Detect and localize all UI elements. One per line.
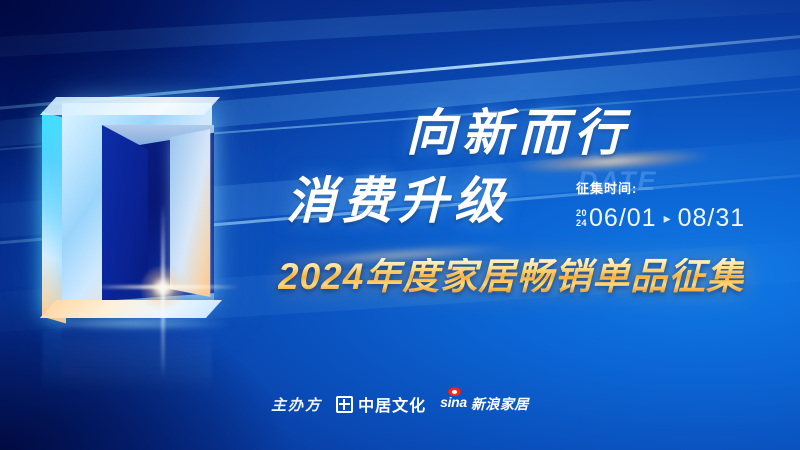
promo-banner: 向新而行 消费升级 DATE 征集时间: 20 24 06/01 ▸ 08/31… [0, 0, 800, 450]
reflection-side [42, 325, 64, 397]
headline-line-1: 向新而行 [406, 108, 756, 158]
date-start: 06/01 [589, 204, 657, 233]
date-end: 08/31 [678, 204, 746, 233]
sina-logo-icon: sina [440, 394, 467, 412]
subtitle-gold: 2024年度家居畅销单品征集 [278, 258, 744, 295]
sina-eye-icon [448, 387, 461, 396]
headline-group: 向新而行 消费升级 [406, 108, 756, 158]
footer-credits: 主办方 中居文化 sina 新浪家居 [0, 392, 800, 416]
date-year-bottom: 24 [576, 219, 587, 228]
sina-cn-label: 新浪家居 [471, 394, 529, 414]
date-separator-icon: ▸ [664, 210, 671, 227]
brand-zhongju: 中居文化 [336, 392, 426, 416]
light-ray [0, 0, 800, 64]
headline-line-2: 消费升级 [286, 176, 510, 226]
date-year-stacked: 20 24 [576, 209, 587, 227]
portal-reflection [40, 322, 230, 400]
portal-door-graphic [40, 95, 230, 325]
door-leaf [170, 129, 210, 297]
organizer-label: 主办方 [271, 394, 322, 415]
door-top-face [40, 97, 220, 115]
date-block: DATE 征集时间: 20 24 06/01 ▸ 08/31 [576, 172, 786, 233]
brand-zhongju-label: 中居文化 [358, 392, 426, 416]
zhongju-logo-icon [336, 396, 353, 413]
door-bottom-face [40, 300, 222, 318]
door-frame-outer [62, 103, 212, 308]
date-label: 征集时间: [576, 182, 786, 195]
reflection-body [62, 330, 212, 400]
brand-sina: sina 新浪家居 [440, 394, 529, 414]
date-range-row: 20 24 06/01 ▸ 08/31 [576, 204, 786, 233]
sina-latin-label: sina [440, 394, 467, 410]
door-inner-wall [102, 125, 148, 300]
